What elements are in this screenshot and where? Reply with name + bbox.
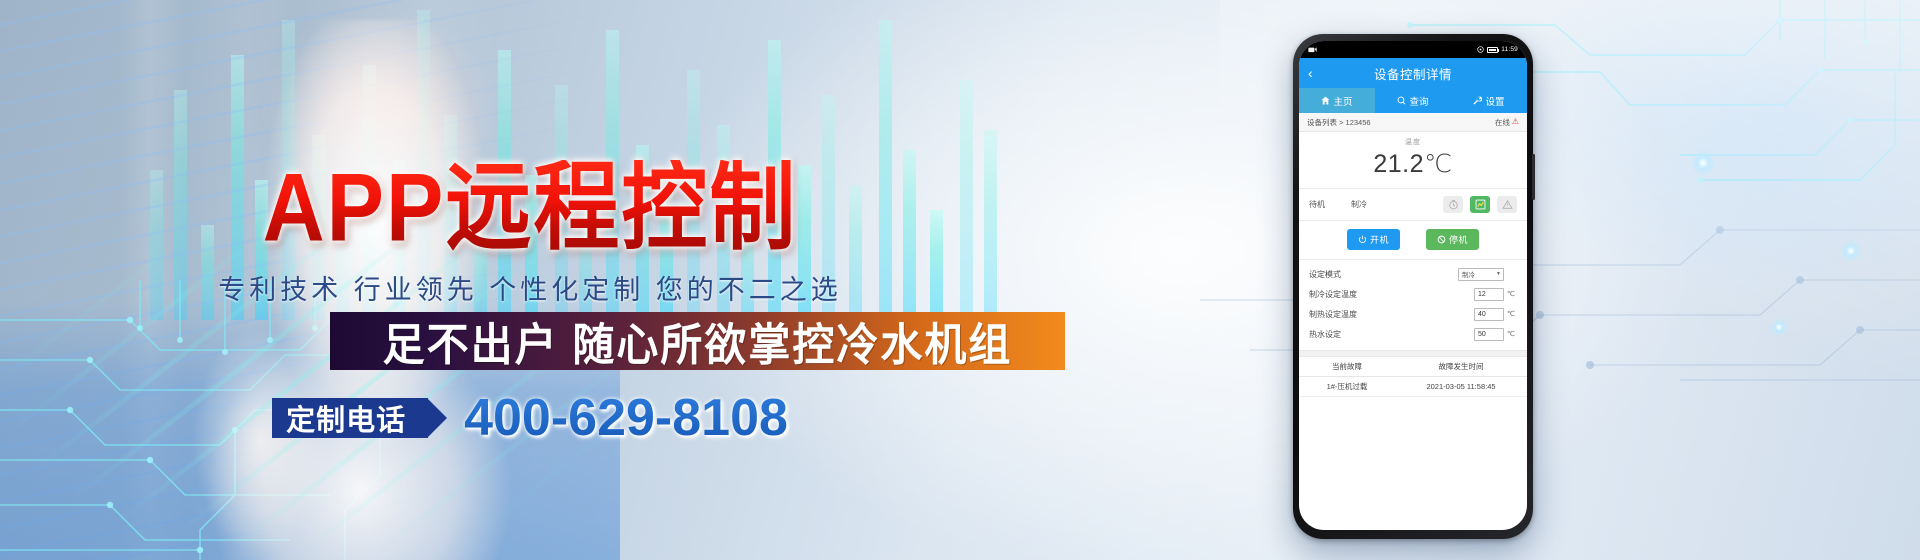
stop-icon bbox=[1437, 235, 1446, 244]
tab-settings-label: 设置 bbox=[1485, 94, 1504, 108]
mode-select[interactable]: 制冷 ▼ bbox=[1458, 268, 1504, 281]
banner-subtitle: 专利技术 行业领先 个性化定制 您的不二之选 bbox=[0, 268, 1060, 307]
power-off-label: 停机 bbox=[1449, 233, 1468, 246]
temperature-display: 温度 21.2℃ bbox=[1299, 132, 1527, 189]
setting-label: 热水设定 bbox=[1309, 329, 1341, 340]
setting-row-heat-temp: 制热设定温度 40 ℃ bbox=[1309, 304, 1517, 324]
table-row[interactable]: 1#-压机过载 2021-03-05 11:58:45 bbox=[1299, 377, 1527, 397]
tab-query[interactable]: 查询 bbox=[1375, 88, 1451, 113]
device-mode-label: 制冷 bbox=[1351, 199, 1436, 210]
fault-table-header: 当前故障 故障发生时间 bbox=[1299, 357, 1527, 377]
search-icon bbox=[1397, 96, 1406, 105]
setting-unit: ℃ bbox=[1507, 310, 1517, 318]
tab-home[interactable]: 主页 bbox=[1299, 88, 1375, 113]
setting-label: 设定模式 bbox=[1309, 269, 1341, 280]
alarm-button[interactable] bbox=[1497, 196, 1517, 213]
mode-select-value: 制冷 bbox=[1462, 269, 1475, 279]
breadcrumb-path[interactable]: 设备列表 > 123456 bbox=[1307, 117, 1371, 128]
cool-temp-input[interactable]: 12 bbox=[1474, 288, 1504, 301]
power-on-button[interactable]: 开机 bbox=[1347, 229, 1400, 250]
warning-triangle-icon: ⚠ bbox=[1512, 118, 1519, 126]
tab-home-label: 主页 bbox=[1333, 94, 1352, 108]
setting-row-hotwater: 热水设定 50 ℃ bbox=[1309, 324, 1517, 344]
phone-status-bar: 11:59 bbox=[1299, 41, 1527, 58]
mode-row: 待机 制冷 bbox=[1299, 189, 1527, 221]
setting-label: 制热设定温度 bbox=[1309, 309, 1357, 320]
location-icon bbox=[1477, 46, 1484, 53]
temperature-label: 温度 bbox=[1299, 137, 1527, 147]
heat-temp-input[interactable]: 40 bbox=[1474, 308, 1504, 321]
setting-row-mode: 设定模式 制冷 ▼ bbox=[1309, 264, 1517, 284]
power-off-button[interactable]: 停机 bbox=[1426, 229, 1479, 250]
status-time: 11:59 bbox=[1501, 46, 1518, 53]
banner-ribbon: 足不出户 随心所欲掌控冷水机组 bbox=[330, 312, 1065, 370]
status-right-icons: 11:59 bbox=[1477, 46, 1518, 53]
setting-label: 制冷设定温度 bbox=[1309, 289, 1357, 300]
sparkle-icon bbox=[1840, 240, 1862, 262]
warning-icon bbox=[1502, 199, 1513, 210]
hotwater-input[interactable]: 50 bbox=[1474, 328, 1504, 341]
timer-button[interactable] bbox=[1443, 196, 1463, 213]
home-icon bbox=[1321, 96, 1330, 105]
tel-label-badge: 定制电话 bbox=[272, 398, 428, 438]
fault-col-current: 当前故障 bbox=[1299, 361, 1395, 372]
banner-stage: APP远程控制 专利技术 行业领先 个性化定制 您的不二之选 足不出户 随心所欲… bbox=[0, 0, 1920, 560]
status-badge-label: 在线 bbox=[1495, 117, 1510, 128]
chart-icon bbox=[1475, 199, 1486, 210]
status-badge: 在线 ⚠ bbox=[1495, 117, 1519, 128]
fault-col-time: 故障发生时间 bbox=[1395, 361, 1527, 372]
fault-name: 1#-压机过载 bbox=[1299, 381, 1395, 392]
phone-navbar: ‹ 设备控制详情 bbox=[1299, 58, 1527, 88]
power-icon bbox=[1358, 235, 1367, 244]
section-divider bbox=[1299, 350, 1527, 357]
tel-number[interactable]: 400-629-8108 bbox=[464, 388, 788, 448]
setting-unit: ℃ bbox=[1507, 330, 1517, 338]
tab-query-label: 查询 bbox=[1409, 94, 1428, 108]
tel-label: 定制电话 bbox=[286, 397, 406, 439]
contact-row: 定制电话 400-629-8108 bbox=[0, 388, 1060, 448]
tab-settings[interactable]: 设置 bbox=[1451, 88, 1527, 113]
fault-time: 2021-03-05 11:58:45 bbox=[1395, 382, 1527, 391]
setting-row-cool-temp: 制冷设定温度 12 ℃ bbox=[1309, 284, 1517, 304]
power-row: 开机 停机 bbox=[1299, 221, 1527, 260]
chevron-down-icon: ▼ bbox=[1496, 271, 1501, 277]
setting-unit: ℃ bbox=[1507, 290, 1517, 298]
phone-page-title: 设备控制详情 bbox=[1299, 64, 1527, 83]
wrench-icon bbox=[1473, 96, 1482, 105]
page-title: APP远程控制 bbox=[0, 160, 1060, 256]
device-state-label: 待机 bbox=[1309, 199, 1351, 210]
temperature-value: 21.2℃ bbox=[1299, 149, 1527, 179]
chevron-left-icon[interactable]: ‹ bbox=[1308, 66, 1313, 80]
status-left-icons bbox=[1308, 46, 1317, 53]
timer-icon bbox=[1448, 199, 1459, 210]
chart-button[interactable] bbox=[1470, 196, 1490, 213]
battery-icon bbox=[1487, 47, 1498, 53]
sparkle-icon bbox=[1770, 318, 1788, 336]
breadcrumb: 设备列表 > 123456 在线 ⚠ bbox=[1299, 113, 1527, 132]
camera-icon bbox=[1308, 46, 1317, 53]
settings-list: 设定模式 制冷 ▼ 制冷设定温度 12 ℃ bbox=[1299, 260, 1527, 350]
banner-ribbon-label: 足不出户 随心所欲掌控冷水机组 bbox=[383, 309, 1013, 374]
phone-screen: 11:59 ‹ 设备控制详情 主页 查询 设置 bbox=[1299, 41, 1527, 530]
phone-mockup: 11:59 ‹ 设备控制详情 主页 查询 设置 bbox=[1293, 34, 1533, 539]
banner-content: APP远程控制 专利技术 行业领先 个性化定制 您的不二之选 足不出户 随心所欲… bbox=[0, 0, 1060, 560]
sparkle-icon bbox=[1690, 150, 1716, 176]
phone-tabbar: 主页 查询 设置 bbox=[1299, 88, 1527, 113]
power-on-label: 开机 bbox=[1370, 233, 1389, 246]
